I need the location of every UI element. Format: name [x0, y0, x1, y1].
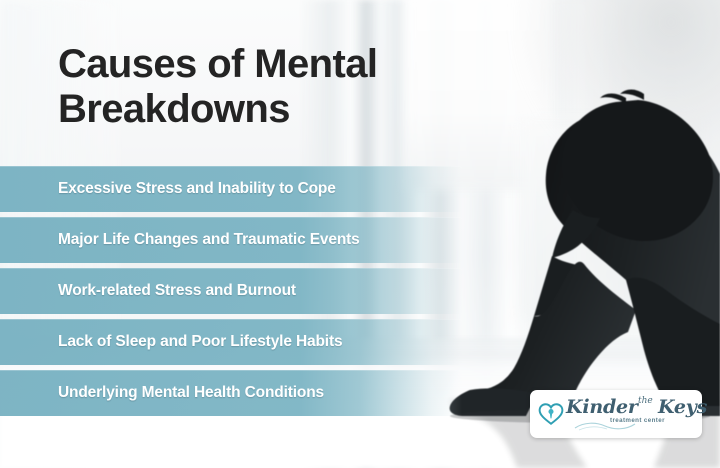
logo-connector: the [638, 396, 653, 406]
list-item: Major Life Changes and Traumatic Events [0, 217, 720, 263]
causes-list: Excessive Stress and Inability to Cope M… [0, 166, 720, 421]
heart-keyhole-icon [538, 401, 564, 427]
list-item: Excessive Stress and Inability to Cope [0, 166, 720, 212]
poster-canvas: Causes of Mental Breakdowns Excessive St… [0, 0, 720, 468]
list-item: Work-related Stress and Burnout [0, 268, 720, 314]
logo-swash-flourish [574, 420, 636, 432]
cause-label: Excessive Stress and Inability to Cope [58, 180, 336, 198]
cause-label: Work-related Stress and Burnout [58, 282, 296, 300]
page-title: Causes of Mental Breakdowns [58, 42, 498, 132]
cause-label: Underlying Mental Health Conditions [58, 384, 324, 402]
cause-label: Lack of Sleep and Poor Lifestyle Habits [58, 333, 342, 351]
brand-logo[interactable]: Kinder the Keys treatment center [530, 390, 702, 438]
logo-name: Kinder [566, 397, 638, 417]
logo-wordmark: Kinder the Keys treatment center [566, 394, 694, 434]
list-item: Lack of Sleep and Poor Lifestyle Habits [0, 319, 720, 365]
cause-label: Major Life Changes and Traumatic Events [58, 231, 360, 249]
logo-name-secondary: Keys [658, 397, 707, 417]
